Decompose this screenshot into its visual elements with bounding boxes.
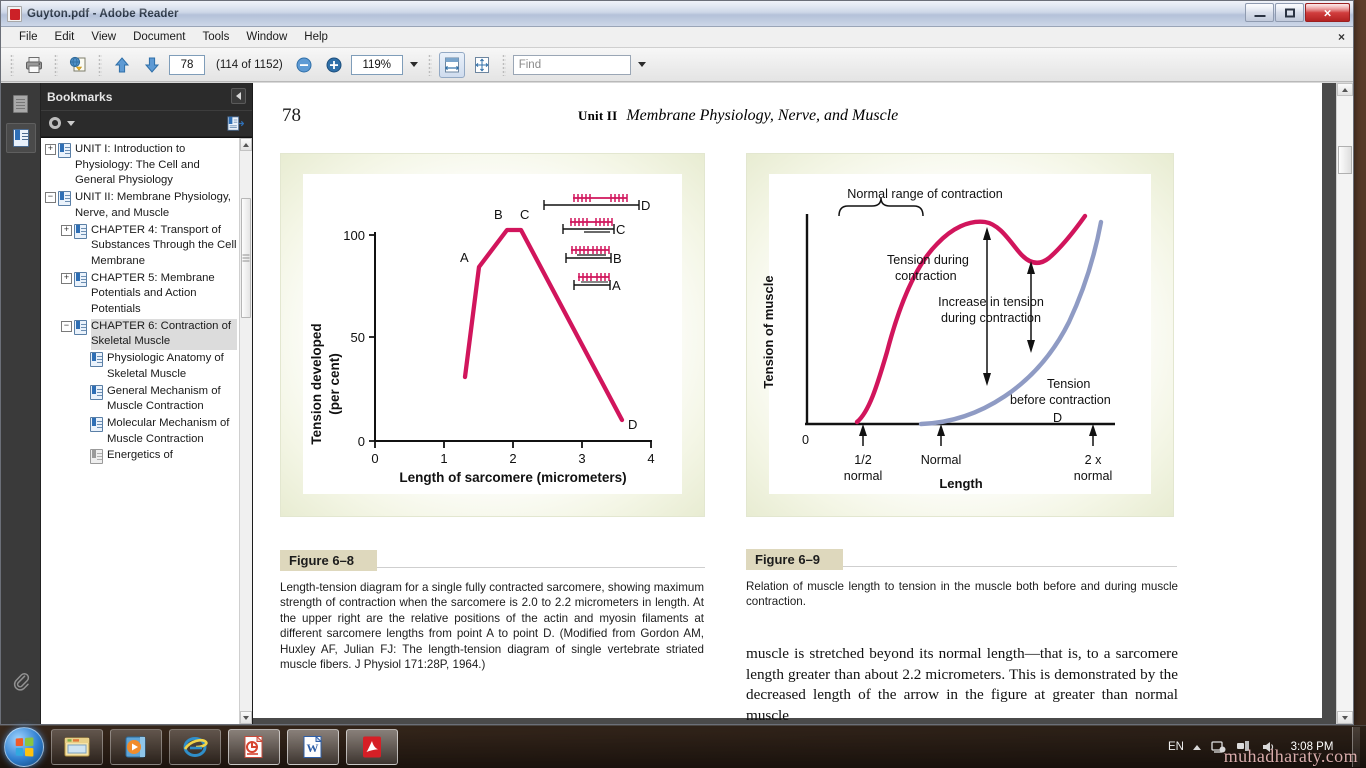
toolbar-separator bbox=[54, 54, 58, 76]
main-toolbar: 78 (114 of 1152) 119% bbox=[1, 48, 1353, 82]
zoom-dropdown-button[interactable] bbox=[407, 55, 421, 75]
bookmark-page-icon bbox=[58, 143, 71, 158]
expand-icon[interactable]: + bbox=[61, 225, 72, 236]
zoom-out-button[interactable] bbox=[291, 52, 317, 78]
svg-text:before contraction: before contraction bbox=[1010, 393, 1111, 407]
caption-rule bbox=[377, 567, 705, 568]
pages-panel-button[interactable] bbox=[6, 89, 36, 119]
svg-text:Length: Length bbox=[939, 476, 982, 491]
bookmark-item[interactable]: +UNIT I: Introduction to Physiology: The… bbox=[45, 142, 237, 189]
svg-text:2 x: 2 x bbox=[1085, 453, 1103, 467]
figure-6-9-image: 0 Tension of muscle Length Normal range … bbox=[746, 153, 1174, 517]
fit-width-icon bbox=[442, 55, 462, 75]
svg-text:A: A bbox=[460, 250, 469, 265]
toolbar-separator bbox=[428, 54, 432, 76]
adobe-reader-window: Guyton.pdf - Adobe Reader × File Edit Vi… bbox=[0, 0, 1354, 725]
bookmark-options-button[interactable] bbox=[49, 116, 75, 132]
svg-text:D: D bbox=[628, 417, 637, 432]
doc-scroll-down-button[interactable] bbox=[1337, 711, 1353, 724]
bookmark-page-icon bbox=[90, 385, 103, 400]
language-indicator[interactable]: EN bbox=[1168, 741, 1184, 753]
window-controls: × bbox=[1245, 3, 1350, 22]
window-titlebar: Guyton.pdf - Adobe Reader × bbox=[1, 1, 1353, 27]
bookmark-page-icon bbox=[90, 417, 103, 432]
windows-start-orb[interactable] bbox=[4, 727, 44, 767]
figure-6-9-chart: 0 Tension of muscle Length Normal range … bbox=[747, 154, 1175, 518]
bookmark-page-icon bbox=[58, 191, 71, 206]
menu-help[interactable]: Help bbox=[296, 29, 336, 45]
document-scrollbar-thumb[interactable] bbox=[1338, 146, 1352, 174]
svg-text:Tension developed: Tension developed bbox=[309, 323, 324, 444]
printer-icon bbox=[24, 55, 44, 75]
scroll-up-button[interactable] bbox=[240, 138, 252, 151]
previous-page-button[interactable] bbox=[109, 52, 135, 78]
svg-text:0: 0 bbox=[371, 451, 378, 466]
svg-text:100: 100 bbox=[343, 228, 365, 243]
collapse-icon[interactable]: − bbox=[61, 321, 72, 332]
sarcomere-diagram-d: D bbox=[544, 194, 650, 213]
bookmark-page-icon bbox=[74, 272, 87, 287]
menu-tools[interactable]: Tools bbox=[195, 29, 238, 45]
svg-text:Increase in tension: Increase in tension bbox=[938, 295, 1044, 309]
figure-6-9-caption-tag: Figure 6–9 bbox=[746, 549, 843, 570]
bookmark-item[interactable]: −UNIT II: Membrane Physiology, Nerve, an… bbox=[45, 190, 237, 221]
caption-rule bbox=[843, 566, 1177, 567]
body-paragraph: muscle is stretched beyond its normal le… bbox=[746, 644, 1178, 724]
figure-6-8-image: 0 50 100 0 1 2 3 4 Length of sarcomere (… bbox=[280, 153, 705, 517]
bookmark-spacer bbox=[77, 450, 88, 461]
menu-document[interactable]: Document bbox=[125, 29, 193, 45]
running-head-title: Membrane Physiology, Nerve, and Muscle bbox=[626, 107, 898, 124]
bookmarks-scrollbar-thumb[interactable] bbox=[241, 198, 251, 318]
svg-text:normal: normal bbox=[844, 469, 883, 483]
find-dropdown-button[interactable] bbox=[635, 55, 649, 75]
pdf-page: 78 Unit IIMembrane Physiology, Nerve, an… bbox=[253, 83, 1322, 718]
bookmark-item[interactable]: −CHAPTER 6: Contraction of Skeletal Musc… bbox=[45, 319, 237, 350]
sarcomere-diagram-a: A bbox=[574, 273, 621, 293]
svg-text:during contraction: during contraction bbox=[941, 311, 1041, 325]
menu-view[interactable]: View bbox=[83, 29, 124, 45]
zoom-in-button[interactable] bbox=[321, 52, 347, 78]
toolbar-separator bbox=[98, 54, 102, 76]
fit-width-button[interactable] bbox=[439, 52, 465, 78]
figure-6-8-chart: 0 50 100 0 1 2 3 4 Length of sarcomere (… bbox=[281, 154, 706, 518]
collapse-panel-icon[interactable] bbox=[231, 88, 246, 104]
bookmark-label: Physiologic Anatomy of Skeletal Muscle bbox=[107, 351, 237, 382]
svg-text:B: B bbox=[613, 251, 622, 266]
close-button[interactable]: × bbox=[1305, 3, 1350, 22]
bookmark-item[interactable]: +CHAPTER 5: Membrane Potentials and Acti… bbox=[45, 271, 237, 318]
svg-text:C: C bbox=[520, 207, 529, 222]
email-document-button[interactable] bbox=[65, 52, 91, 78]
page-number-label: 78 bbox=[282, 105, 301, 127]
svg-text:A: A bbox=[612, 278, 621, 293]
expand-icon[interactable]: + bbox=[45, 144, 56, 155]
next-page-button[interactable] bbox=[139, 52, 165, 78]
bookmark-label: CHAPTER 6: Contraction of Skeletal Muscl… bbox=[91, 319, 237, 350]
collapse-icon[interactable]: − bbox=[45, 192, 56, 203]
expand-current-bookmark-icon bbox=[227, 115, 244, 133]
expand-current-bookmark-button[interactable] bbox=[227, 115, 244, 133]
window-title: Guyton.pdf - Adobe Reader bbox=[27, 8, 179, 20]
svg-text:Length of sarcomere (micromete: Length of sarcomere (micrometers) bbox=[399, 470, 626, 485]
svg-text:D: D bbox=[1053, 411, 1062, 425]
media-player-icon bbox=[121, 734, 151, 760]
content-area: Bookmarks +UNIT I: Int bbox=[1, 83, 1353, 724]
svg-text:1/2: 1/2 bbox=[854, 453, 872, 467]
svg-text:Tension: Tension bbox=[1047, 377, 1090, 391]
svg-text:W: W bbox=[307, 741, 319, 755]
arrow-down-icon bbox=[142, 55, 162, 75]
bookmark-item[interactable]: General Mechanism of Muscle Contraction bbox=[45, 384, 237, 415]
windows-taskbar: W EN 3:08 PM muhadharaty.com bbox=[0, 725, 1366, 768]
figure-6-8-caption-tag: Figure 6–8 bbox=[280, 550, 377, 571]
minimize-button[interactable] bbox=[1245, 3, 1274, 22]
adobe-reader-icon bbox=[357, 734, 387, 760]
taskbar-powerpoint[interactable] bbox=[228, 729, 280, 765]
svg-text:0: 0 bbox=[358, 434, 365, 449]
taskbar-media-player[interactable] bbox=[110, 729, 162, 765]
bookmarks-panel-button[interactable] bbox=[6, 123, 36, 153]
svg-text:normal: normal bbox=[1074, 469, 1113, 483]
page-count-label: (114 of 1152) bbox=[216, 59, 283, 71]
bookmark-spacer bbox=[77, 418, 88, 429]
watermark-text: muhadharaty.com bbox=[1224, 746, 1358, 767]
document-viewport[interactable]: 78 Unit IIMembrane Physiology, Nerve, an… bbox=[253, 83, 1353, 724]
internet-explorer-icon bbox=[180, 734, 210, 760]
svg-text:Normal range of contraction: Normal range of contraction bbox=[847, 187, 1002, 201]
pages-thumbnail-icon bbox=[13, 95, 28, 113]
figure-6-8-caption-text: Length-tension diagram for a single full… bbox=[280, 580, 704, 672]
taskbar-word[interactable]: W bbox=[287, 729, 339, 765]
bookmark-item[interactable]: Energetics of bbox=[45, 448, 237, 464]
menu-window[interactable]: Window bbox=[238, 29, 295, 45]
svg-text:4: 4 bbox=[647, 451, 654, 466]
toolbar-separator bbox=[502, 54, 506, 76]
bookmark-page-icon bbox=[90, 352, 103, 367]
svg-text:(per cent): (per cent) bbox=[327, 353, 342, 415]
bookmark-label: UNIT II: Membrane Physiology, Nerve, and… bbox=[75, 190, 237, 221]
close-document-icon[interactable]: × bbox=[1338, 30, 1345, 44]
svg-text:D: D bbox=[641, 198, 650, 213]
bookmark-label: CHAPTER 5: Membrane Potentials and Actio… bbox=[91, 271, 237, 318]
bookmarks-icon bbox=[13, 129, 29, 147]
taskbar-windows-explorer[interactable] bbox=[51, 729, 103, 765]
bookmark-label: Molecular Mechanism of Muscle Contractio… bbox=[107, 416, 237, 447]
bookmark-page-icon bbox=[74, 224, 87, 239]
svg-text:Tension during: Tension during bbox=[887, 253, 969, 267]
bookmark-label: Energetics of bbox=[107, 448, 237, 464]
chevron-down-icon bbox=[67, 121, 75, 126]
bookmark-spacer bbox=[77, 353, 88, 364]
find-input[interactable]: Find bbox=[513, 55, 631, 75]
bookmarks-tree[interactable]: +UNIT I: Introduction to Physiology: The… bbox=[41, 137, 252, 724]
running-head: Unit IIMembrane Physiology, Nerve, and M… bbox=[578, 107, 898, 125]
taskbar-adobe-reader[interactable] bbox=[346, 729, 398, 765]
svg-text:contraction: contraction bbox=[895, 269, 957, 283]
bookmark-label: UNIT I: Introduction to Physiology: The … bbox=[75, 142, 237, 189]
navigation-rail bbox=[1, 83, 41, 724]
figure-6-9-caption-text: Relation of muscle length to tension in … bbox=[746, 579, 1178, 610]
bookmark-spacer bbox=[77, 386, 88, 397]
sarcomere-diagram-b: B bbox=[566, 246, 622, 266]
bookmark-item[interactable]: Physiologic Anatomy of Skeletal Muscle bbox=[45, 351, 237, 382]
bookmarks-tree-items: +UNIT I: Introduction to Physiology: The… bbox=[41, 138, 239, 724]
scroll-down-button[interactable] bbox=[240, 711, 252, 724]
bookmark-item[interactable]: Molecular Mechanism of Muscle Contractio… bbox=[45, 416, 237, 447]
bookmark-page-icon bbox=[90, 449, 103, 464]
print-button[interactable] bbox=[21, 52, 47, 78]
pdf-document-icon bbox=[7, 6, 22, 22]
bookmark-label: General Mechanism of Muscle Contraction bbox=[107, 384, 237, 415]
doc-scroll-up-button[interactable] bbox=[1337, 83, 1353, 96]
chevron-down-icon bbox=[638, 62, 646, 67]
arrow-up-icon bbox=[112, 55, 132, 75]
svg-text:C: C bbox=[616, 222, 625, 237]
fit-page-icon bbox=[472, 55, 492, 75]
bookmarks-toolbar bbox=[41, 111, 252, 137]
svg-text:Tension of muscle: Tension of muscle bbox=[761, 275, 776, 388]
bookmark-item[interactable]: +CHAPTER 4: Transport of Substances Thro… bbox=[45, 223, 237, 270]
svg-text:0: 0 bbox=[802, 433, 809, 447]
attachments-panel-button[interactable] bbox=[6, 666, 36, 696]
bookmark-page-icon bbox=[74, 320, 87, 335]
email-document-icon bbox=[68, 55, 88, 75]
menu-bar: File Edit View Document Tools Window Hel… bbox=[1, 27, 1353, 48]
bookmarks-scrollbar[interactable] bbox=[239, 138, 252, 724]
svg-text:2: 2 bbox=[509, 451, 516, 466]
sarcomere-diagram-c: C bbox=[563, 218, 625, 237]
expand-icon[interactable]: + bbox=[61, 273, 72, 284]
svg-text:Normal: Normal bbox=[921, 453, 962, 467]
zoom-level-input[interactable]: 119% bbox=[351, 55, 403, 75]
maximize-button[interactable] bbox=[1275, 3, 1304, 22]
bookmark-label: CHAPTER 4: Transport of Substances Throu… bbox=[91, 223, 237, 270]
document-scrollbar[interactable] bbox=[1336, 83, 1353, 724]
svg-text:1: 1 bbox=[440, 451, 447, 466]
toolbar-separator bbox=[10, 54, 14, 76]
menu-edit[interactable]: Edit bbox=[47, 29, 83, 45]
bookmarks-panel: Bookmarks +UNIT I: Int bbox=[41, 83, 253, 724]
word-icon: W bbox=[298, 734, 328, 760]
zoom-out-icon bbox=[295, 56, 313, 74]
paperclip-icon bbox=[12, 671, 30, 691]
menu-file[interactable]: File bbox=[11, 29, 46, 45]
bookmarks-title: Bookmarks bbox=[47, 90, 112, 104]
fit-page-button[interactable] bbox=[469, 52, 495, 78]
running-head-unit: Unit II bbox=[578, 108, 617, 123]
svg-text:50: 50 bbox=[351, 330, 365, 345]
page-number-input[interactable]: 78 bbox=[169, 55, 205, 75]
zoom-in-icon bbox=[325, 56, 343, 74]
bookmarks-panel-header: Bookmarks bbox=[41, 83, 252, 111]
svg-text:3: 3 bbox=[578, 451, 585, 466]
svg-text:B: B bbox=[494, 207, 503, 222]
windows-explorer-icon bbox=[62, 734, 92, 760]
gear-icon bbox=[49, 116, 65, 132]
chevron-down-icon bbox=[410, 62, 418, 67]
powerpoint-icon bbox=[239, 734, 269, 760]
taskbar-internet-explorer[interactable] bbox=[169, 729, 221, 765]
show-hidden-icons-arrow[interactable] bbox=[1193, 745, 1201, 750]
